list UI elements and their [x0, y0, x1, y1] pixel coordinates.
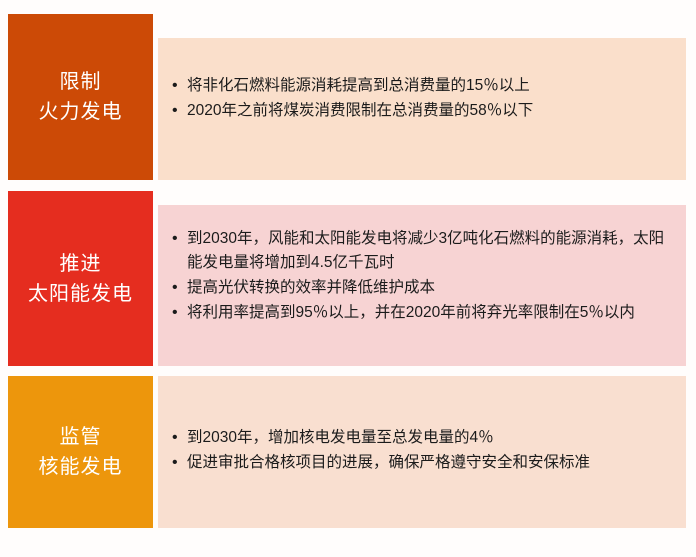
- list-item-text: 提高光伏转换的效率并降低维护成本: [187, 276, 674, 300]
- row-label-block-promote-solar[interactable]: 推进 太阳能发电: [8, 191, 153, 366]
- list-item: • 促进审批合格核项目的进展，确保严格遵守安全和安保标准: [172, 451, 674, 475]
- list-item: • 2020年之前将煤炭消费限制在总消费量的58％以下: [172, 99, 674, 123]
- row-label-block-limit-thermal[interactable]: 限制 火力发电: [8, 14, 153, 180]
- list-item: • 提高光伏转换的效率并降低维护成本: [172, 276, 674, 300]
- list-item-text: 到2030年，风能和太阳能发电将减少3亿吨化石燃料的能源消耗，太阳能发电量将增加…: [187, 227, 674, 275]
- list-item: • 到2030年，增加核电发电量至总发电量的4％: [172, 426, 674, 450]
- row-content-block-regulate-nuclear: • 到2030年，增加核电发电量至总发电量的4％ • 促进审批合格核项目的进展，…: [158, 376, 686, 528]
- bullet-dot-icon: •: [172, 227, 187, 251]
- bullet-dot-icon: •: [172, 451, 187, 475]
- row-label-line-2: 核能发电: [39, 452, 123, 482]
- policy-row-regulate-nuclear: 监管 核能发电 • 到2030年，增加核电发电量至总发电量的4％ • 促进审批合…: [0, 376, 696, 543]
- row-label-line-2: 火力发电: [39, 97, 123, 127]
- bullet-dot-icon: •: [172, 301, 187, 325]
- row-label-block-regulate-nuclear[interactable]: 监管 核能发电: [8, 376, 153, 528]
- slide-canvas: 限制 火力发电 • 将非化石燃料能源消耗提高到总消费量的15％以上 • 2020…: [0, 0, 696, 557]
- bullet-dot-icon: •: [172, 276, 187, 300]
- policy-row-limit-thermal: 限制 火力发电 • 将非化石燃料能源消耗提高到总消费量的15％以上 • 2020…: [0, 14, 696, 180]
- bullet-list: • 到2030年，风能和太阳能发电将减少3亿吨化石燃料的能源消耗，太阳能发电量将…: [172, 227, 674, 326]
- list-item: • 将非化石燃料能源消耗提高到总消费量的15％以上: [172, 74, 674, 98]
- bullet-dot-icon: •: [172, 99, 187, 123]
- bullet-list: • 到2030年，增加核电发电量至总发电量的4％ • 促进审批合格核项目的进展，…: [172, 426, 674, 476]
- row-label-line-2: 太阳能发电: [28, 279, 133, 309]
- list-item-text: 将非化石燃料能源消耗提高到总消费量的15％以上: [187, 74, 674, 98]
- policy-row-promote-solar: 推进 太阳能发电 • 到2030年，风能和太阳能发电将减少3亿吨化石燃料的能源消…: [0, 191, 696, 366]
- bullet-dot-icon: •: [172, 426, 187, 450]
- row-label-line-1: 限制: [60, 67, 102, 97]
- list-item-text: 将利用率提高到95％以上，并在2020年前将弃光率限制在5％以内: [187, 301, 674, 325]
- row-content-block-limit-thermal: • 将非化石燃料能源消耗提高到总消费量的15％以上 • 2020年之前将煤炭消费…: [158, 38, 686, 180]
- bullet-list: • 将非化石燃料能源消耗提高到总消费量的15％以上 • 2020年之前将煤炭消费…: [172, 74, 674, 124]
- row-content-block-promote-solar: • 到2030年，风能和太阳能发电将减少3亿吨化石燃料的能源消耗，太阳能发电量将…: [158, 205, 686, 366]
- list-item-text: 促进审批合格核项目的进展，确保严格遵守安全和安保标准: [187, 451, 674, 475]
- list-item-text: 2020年之前将煤炭消费限制在总消费量的58％以下: [187, 99, 674, 123]
- list-item: • 到2030年，风能和太阳能发电将减少3亿吨化石燃料的能源消耗，太阳能发电量将…: [172, 227, 674, 275]
- row-label-line-1: 监管: [60, 422, 102, 452]
- row-label-line-1: 推进: [60, 249, 102, 279]
- list-item: • 将利用率提高到95％以上，并在2020年前将弃光率限制在5％以内: [172, 301, 674, 325]
- bullet-dot-icon: •: [172, 74, 187, 98]
- list-item-text: 到2030年，增加核电发电量至总发电量的4％: [187, 426, 674, 450]
